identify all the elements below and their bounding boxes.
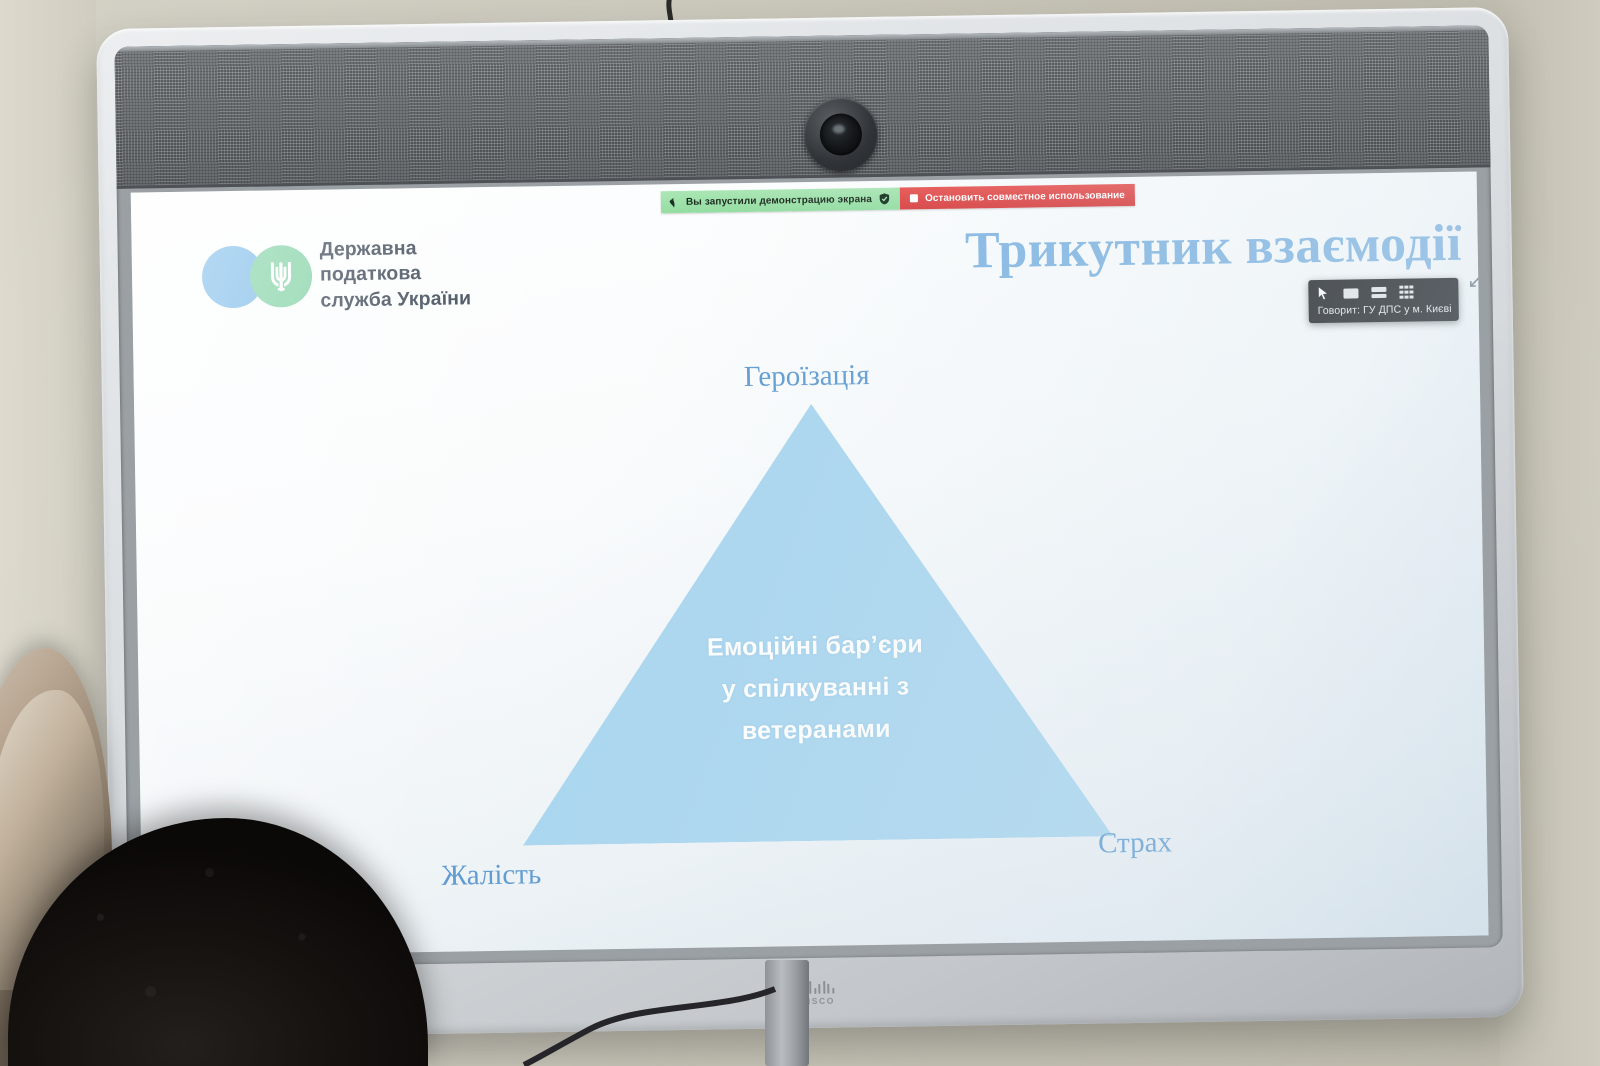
layout-split-icon[interactable] [1371,287,1386,298]
bezel-highlight [114,25,1488,52]
presentation-slide: Державна податкова служба України Трикут… [131,171,1489,956]
triangle-label-heroization: Героїзація [134,349,1480,403]
camera-lens-glass [820,113,863,156]
share-status-chip: Вы запустили демонстрацию экрана [661,188,900,214]
camera-glint [833,124,845,133]
speaker-fabric-bezel [114,25,1490,189]
floor-cable [520,985,780,1066]
share-screen-icon [669,197,679,208]
stop-square-icon [910,194,918,202]
share-status-text: Вы запустили демонстрацию экрана [686,193,872,207]
screen-surface: Державна податкова служба України Трикут… [131,171,1489,956]
shield-check-icon[interactable] [879,193,890,205]
display-inner-frame: Державна податкова служба України Трикут… [114,25,1502,968]
layout-grid-icon[interactable] [1399,285,1413,299]
expand-diagonal-icon[interactable] [1469,271,1485,291]
triangle-label-fear: Страх [1098,826,1172,860]
zoom-floating-toolbar[interactable]: Говорит: ГУ ДПС у м. Києві [1308,278,1459,323]
triangle-diagram: Героїзація Емоційні бар’єри у спілкуванн… [131,171,1489,956]
zoom-toolbar-icons [1308,278,1458,304]
mouse-pointer-icon[interactable] [1317,286,1330,301]
stop-sharing-button[interactable]: Остановить совместное использование [900,184,1135,210]
triangle-center-text: Емоційні бар’єри у спілкуванні з ветеран… [520,620,1112,755]
stop-sharing-label: Остановить совместное использование [925,190,1125,204]
webcam-lens-icon [803,97,878,172]
active-speaker-caption: Говорит: ГУ ДПС у м. Києві [1309,302,1459,323]
layout-single-icon[interactable] [1343,288,1358,298]
triangle-label-pity: Жалість [441,858,541,893]
